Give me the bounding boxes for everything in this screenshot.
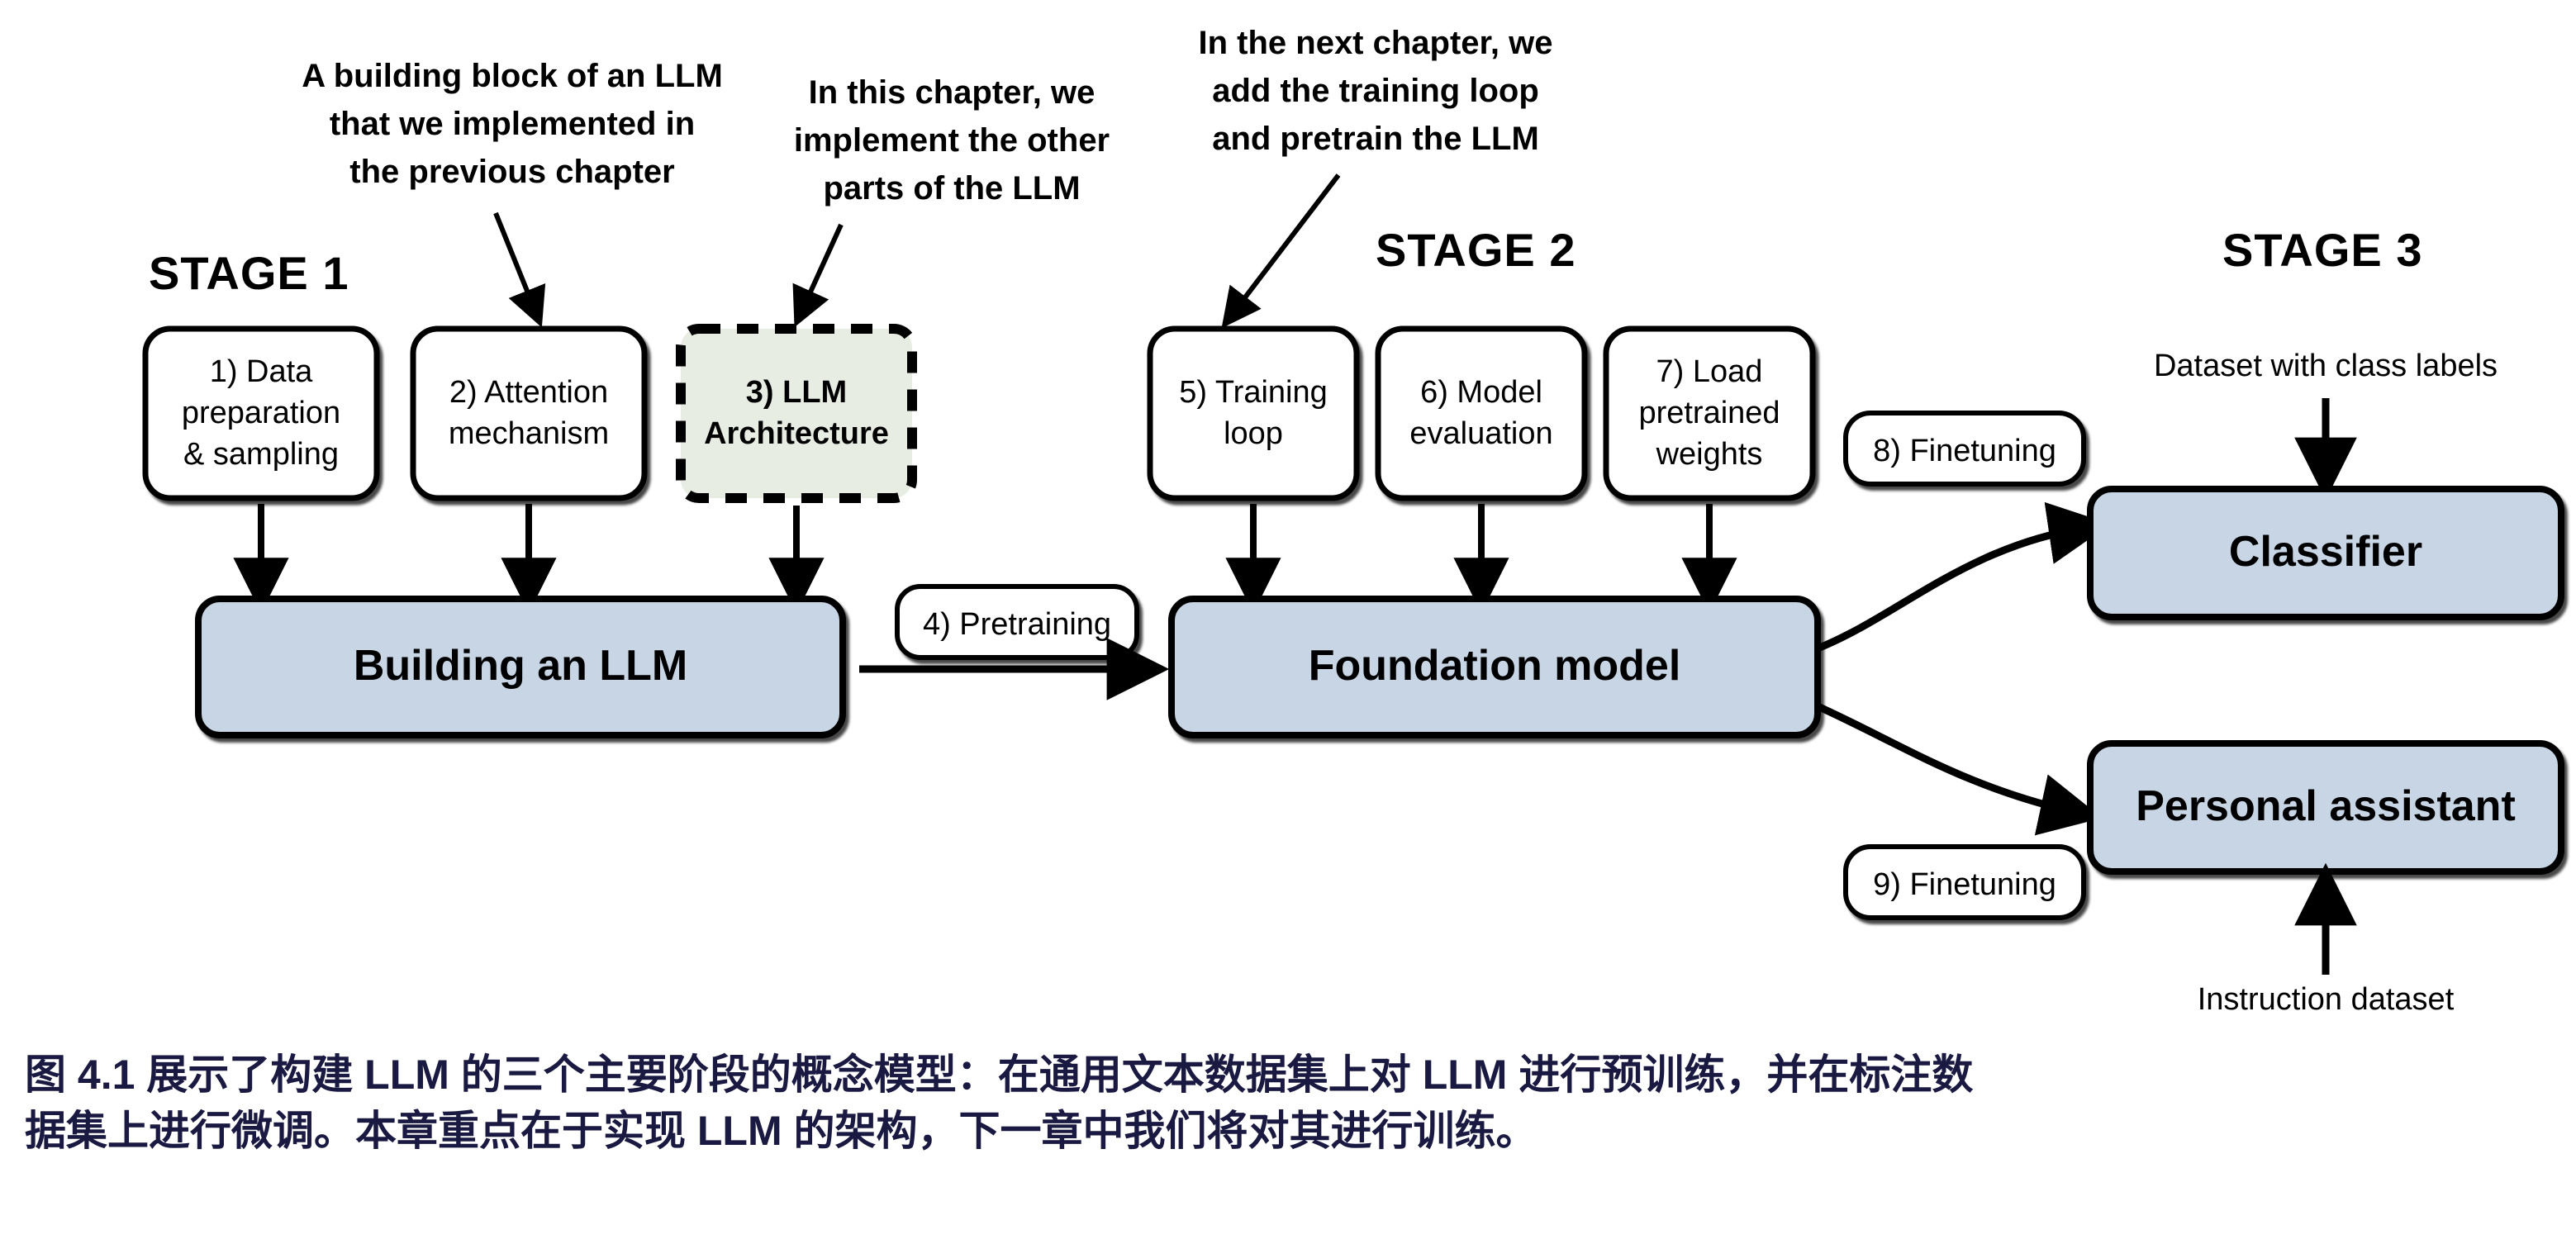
main-box-foundation-model[interactable]: Foundation model bbox=[1172, 599, 1818, 735]
figure-root: STAGE 1 STAGE 2 STAGE 3 A building block… bbox=[0, 0, 2576, 1244]
step-box-3-line-2: Architecture bbox=[704, 416, 889, 451]
annotation-next-chapter-line-1: In the next chapter, we bbox=[1198, 25, 1552, 61]
pill-finetuning-8[interactable]: 8) Finetuning bbox=[1846, 413, 2084, 484]
annotation-next-chapter-line-2: add the training loop bbox=[1212, 73, 1539, 109]
stage-3-label: STAGE 3 bbox=[2222, 224, 2422, 276]
pill-finetuning-8-label: 8) Finetuning bbox=[1873, 434, 2056, 468]
step-box-7[interactable]: 7) Load pretrained weights bbox=[1606, 329, 1813, 595]
annotation-building-block-line-1: A building block of an LLM bbox=[302, 58, 723, 94]
annotation-next-chapter-line-3: and pretrain the LLM bbox=[1212, 121, 1539, 157]
annotation-this-chapter-arrow bbox=[800, 225, 841, 316]
main-box-building-an-llm[interactable]: Building an LLM bbox=[198, 599, 843, 735]
annotation-building-block-line-3: the previous chapter bbox=[349, 154, 674, 190]
label-instruction-dataset-group: Instruction dataset bbox=[2198, 884, 2455, 1017]
step-box-2-line-2: mechanism bbox=[449, 416, 609, 451]
pill-finetuning-9-label: 9) Finetuning bbox=[1873, 867, 2056, 902]
step-box-2[interactable]: 2) Attention mechanism bbox=[413, 329, 644, 595]
main-box-classifier-label: Classifier bbox=[2229, 528, 2422, 576]
step-box-6[interactable]: 6) Model evaluation bbox=[1378, 329, 1585, 595]
label-class-dataset: Dataset with class labels bbox=[2154, 349, 2498, 383]
step-box-1-line-1: 1) Data bbox=[210, 354, 313, 389]
annotation-this-chapter: In this chapter, we implement the other … bbox=[794, 74, 1110, 316]
step-box-3-line-1: 3) LLM bbox=[746, 375, 847, 410]
arrow-foundation-to-classifier bbox=[1818, 527, 2090, 648]
step-box-5[interactable]: 5) Training loop bbox=[1150, 329, 1357, 595]
annotation-building-block-arrow bbox=[496, 213, 537, 316]
stage-heading-1: STAGE 1 bbox=[149, 247, 349, 299]
main-box-foundation-model-label: Foundation model bbox=[1309, 642, 1681, 690]
main-box-personal-assistant-label: Personal assistant bbox=[2136, 782, 2516, 830]
step-box-6-line-1: 6) Model bbox=[1420, 375, 1542, 410]
arrow-foundation-to-personal-assistant bbox=[1818, 706, 2082, 814]
figure-caption-line-2: 据集上进行微调。本章重点在于实现 LLM 的架构，下一章中我们将对其进行训练。 bbox=[25, 1104, 2561, 1160]
main-box-building-an-llm-label: Building an LLM bbox=[354, 642, 687, 690]
pill-pretraining-label: 4) Pretraining bbox=[923, 607, 1111, 642]
annotation-this-chapter-line-2: implement the other bbox=[794, 122, 1110, 159]
llm-stages-diagram: STAGE 1 STAGE 2 STAGE 3 A building block… bbox=[0, 0, 2576, 1033]
step-box-5-line-1: 5) Training bbox=[1179, 375, 1328, 410]
step-box-3[interactable]: 3) LLM Architecture bbox=[681, 329, 912, 595]
annotation-building-block: A building block of an LLM that we imple… bbox=[302, 58, 723, 316]
annotation-this-chapter-line-3: parts of the LLM bbox=[823, 170, 1080, 207]
step-box-6-line-2: evaluation bbox=[1409, 416, 1552, 451]
step-box-5-line-2: loop bbox=[1224, 416, 1283, 451]
step-box-7-line-1: 7) Load bbox=[1656, 354, 1763, 389]
stage-2-label: STAGE 2 bbox=[1376, 224, 1576, 276]
stage-heading-3: STAGE 3 bbox=[2222, 224, 2422, 276]
step-box-1-line-3: & sampling bbox=[183, 437, 339, 472]
pill-finetuning-9[interactable]: 9) Finetuning bbox=[1846, 847, 2084, 918]
label-class-dataset-group: Dataset with class labels bbox=[2154, 349, 2498, 479]
step-box-1[interactable]: 1) Data preparation & sampling bbox=[145, 329, 377, 595]
step-box-7-line-2: pretrained bbox=[1638, 396, 1780, 430]
annotation-this-chapter-line-1: In this chapter, we bbox=[809, 74, 1096, 111]
step-box-7-line-3: weights bbox=[1656, 437, 1763, 472]
step-box-1-line-2: preparation bbox=[182, 396, 340, 430]
main-box-personal-assistant[interactable]: Personal assistant bbox=[2090, 743, 2561, 871]
annotation-next-chapter-arrow bbox=[1229, 175, 1338, 318]
step-box-3-dashed-outline bbox=[681, 329, 912, 498]
stage-heading-2: STAGE 2 bbox=[1376, 224, 1576, 276]
figure-caption-line-1: 图 4.1 展示了构建 LLM 的三个主要阶段的概念模型：在通用文本数据集上对 … bbox=[25, 1047, 2561, 1104]
figure-caption: 图 4.1 展示了构建 LLM 的三个主要阶段的概念模型：在通用文本数据集上对 … bbox=[25, 1047, 2561, 1159]
pill-pretraining[interactable]: 4) Pretraining bbox=[897, 586, 1137, 658]
step-box-2-line-1: 2) Attention bbox=[449, 375, 608, 410]
annotation-building-block-line-2: that we implemented in bbox=[330, 106, 695, 142]
main-box-classifier[interactable]: Classifier bbox=[2090, 489, 2561, 617]
stage-1-label: STAGE 1 bbox=[149, 247, 349, 299]
label-instruction-dataset: Instruction dataset bbox=[2198, 982, 2455, 1017]
